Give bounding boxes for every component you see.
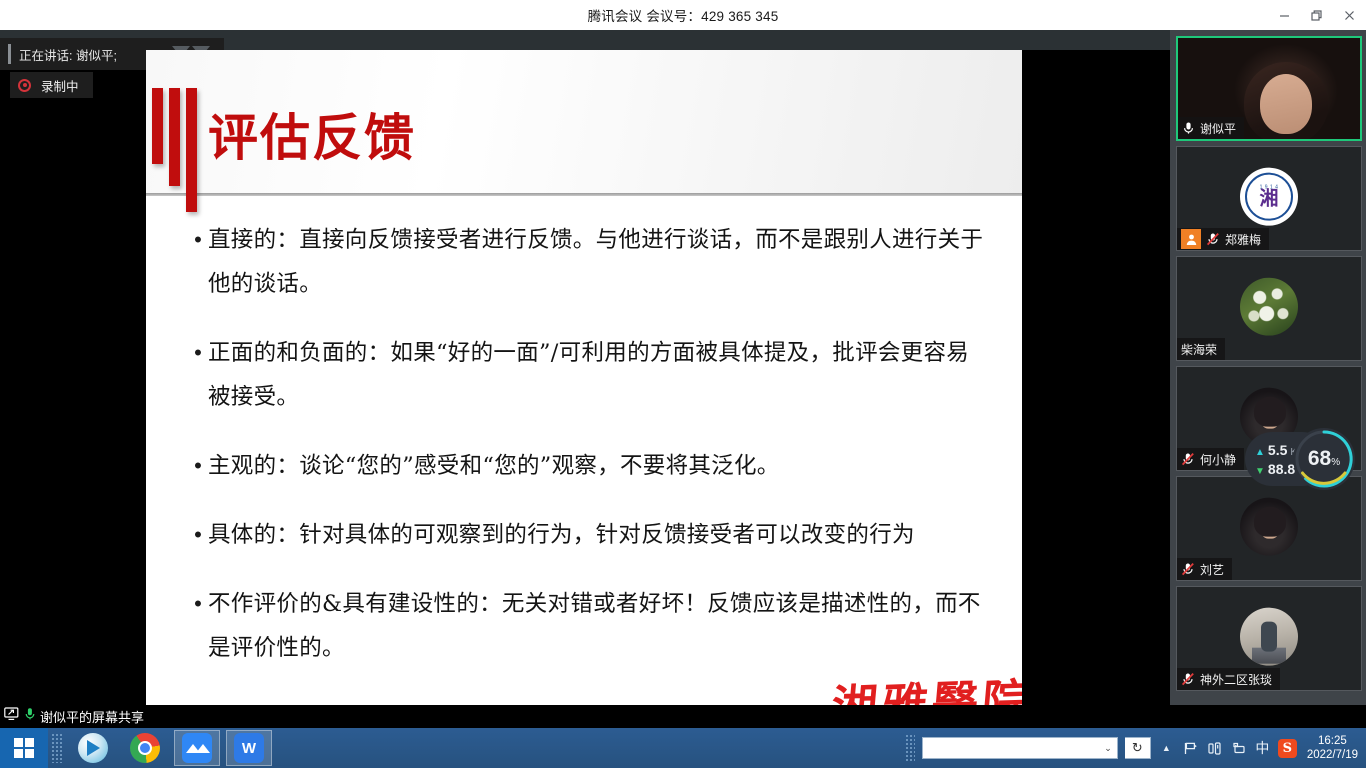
- bullet-marker: •: [188, 513, 208, 557]
- avatar: 1 9 1 4 湘: [1240, 167, 1298, 225]
- shared-slide[interactable]: 评估反馈 • 直接的：直接向反馈接受者进行反馈。与他进行谈话，而不是跟别人进行关…: [146, 50, 1022, 736]
- bullet-marker: •: [188, 218, 208, 306]
- participant-name: 何小静: [1200, 451, 1236, 468]
- bullet-marker: •: [188, 331, 208, 419]
- taskbar-app-google-chrome[interactable]: [122, 730, 168, 766]
- 360-browser-icon: [78, 733, 108, 763]
- list-item: • 具体的：针对具体的可观察到的行为，针对反馈接受者可以改变的行为: [188, 513, 988, 557]
- start-button[interactable]: [0, 728, 48, 768]
- screen-share-strip: 谢似平的屏幕共享: [0, 705, 1366, 728]
- nameplate: 谢似平: [1178, 117, 1244, 139]
- restore-button[interactable]: [1300, 0, 1332, 30]
- clock-time: 16:25: [1318, 734, 1347, 748]
- clock-date: 2022/7/19: [1307, 748, 1358, 762]
- participant-name: 谢似平: [1200, 120, 1236, 137]
- flag-icon[interactable]: [1182, 736, 1199, 760]
- recording-label: 录制中: [41, 76, 79, 95]
- participant-tile[interactable]: 柴海荣: [1176, 256, 1362, 361]
- mic-muted-icon: [1206, 232, 1220, 246]
- mic-muted-icon: [1181, 672, 1195, 686]
- download-speed-value: 88.8: [1268, 461, 1295, 477]
- tray-refresh-button[interactable]: ↻: [1125, 737, 1151, 759]
- tray-address-combo[interactable]: ⌄: [922, 737, 1118, 759]
- taskbar-app-360-browser[interactable]: [70, 730, 116, 766]
- participant-tile[interactable]: 神外二区张琰: [1176, 586, 1362, 691]
- bullet-text: 主观的：谈论“您的”感受和“您的”观察，不要将其泛化。: [208, 444, 780, 488]
- participant-tile-speaker[interactable]: 谢似平: [1176, 36, 1362, 141]
- tencent-meeting-icon: [182, 733, 212, 763]
- bullet-text: 直接的：直接向反馈接受者进行反馈。与他进行谈话，而不是跟别人进行关于他的谈话。: [208, 218, 988, 306]
- bullet-marker: •: [188, 582, 208, 670]
- minimize-button[interactable]: [1268, 0, 1300, 30]
- mic-muted-icon: [1181, 562, 1195, 576]
- show-hidden-icons-button[interactable]: ▲: [1158, 736, 1175, 760]
- avatar: [1240, 497, 1298, 555]
- participant-tile[interactable]: 1 9 1 4 湘 郑雅梅: [1176, 146, 1362, 251]
- taskbar-app-wps-office[interactable]: W: [226, 730, 272, 766]
- screen-share-icon: [4, 707, 20, 726]
- recording-indicator[interactable]: 录制中: [10, 72, 93, 98]
- chevron-down-icon: ⌄: [1104, 743, 1112, 754]
- school-crest-icon: 1 9 1 4 湘: [1245, 172, 1293, 220]
- participant-name: 神外二区张琰: [1200, 671, 1272, 688]
- windows-logo-icon: [14, 738, 34, 758]
- sogou-input-icon[interactable]: S: [1278, 739, 1297, 758]
- wps-icon: W: [234, 733, 264, 763]
- window-title-bar: 腾讯会议 会议号：429 365 345: [0, 0, 1366, 30]
- system-tray[interactable]: ⌄ ↻ ▲ 中 S 16:25: [905, 728, 1366, 768]
- active-speaker-label: 正在讲话: 谢似平;: [19, 45, 117, 64]
- network-speed-widget[interactable]: ▲ 5.5 K/s ▼ 88.8 K/s 68%: [1245, 428, 1355, 490]
- mic-muted-icon: [1181, 452, 1195, 466]
- participant-panel[interactable]: 谢似平 1 9 1 4 湘: [1170, 30, 1366, 705]
- taskbar-app-tencent-meeting[interactable]: [174, 730, 220, 766]
- bullet-text: 具体的：针对具体的可观察到的行为，针对反馈接受者可以改变的行为: [208, 513, 915, 557]
- participant-name: 刘艺: [1200, 561, 1224, 578]
- crest-symbol: 湘: [1259, 190, 1278, 208]
- bullet-marker: •: [188, 444, 208, 488]
- participant-tile[interactable]: 刘艺: [1176, 476, 1362, 581]
- usage-percent: 68%: [1308, 447, 1340, 471]
- list-item: • 正面的和负面的：如果“好的一面”/可利用的方面被具体提及，批评会更容易被接受…: [188, 331, 988, 419]
- list-item: • 主观的：谈论“您的”感受和“您的”观察，不要将其泛化。: [188, 444, 988, 488]
- avatar: [1240, 607, 1298, 665]
- avatar: [1240, 277, 1298, 335]
- nameplate: 柴海荣: [1177, 338, 1225, 360]
- bullet-text: 正面的和负面的：如果“好的一面”/可利用的方面被具体提及，批评会更容易被接受。: [208, 331, 988, 419]
- list-item: • 直接的：直接向反馈接受者进行反馈。与他进行谈话，而不是跟别人进行关于他的谈话…: [188, 218, 988, 306]
- meeting-stage: 正在讲话: 谢似平; 录制中 评估反馈 • 直接的：直接向反馈接受者进行反馈。与…: [0, 30, 1366, 705]
- upload-arrow-icon: ▲: [1255, 448, 1265, 458]
- mic-on-icon: [1182, 121, 1195, 135]
- tray-grip[interactable]: [905, 734, 915, 762]
- ime-indicator[interactable]: 中: [1254, 736, 1271, 760]
- screen-share-label: 谢似平的屏幕共享: [40, 707, 144, 726]
- windows-taskbar[interactable]: W ⌄ ↻ ▲: [0, 728, 1366, 768]
- nameplate: 神外二区张琰: [1177, 668, 1280, 690]
- usage-gauge: 68%: [1293, 428, 1355, 490]
- chrome-icon: [130, 733, 160, 763]
- upload-speed-value: 5.5: [1268, 442, 1287, 458]
- bullet-text: 不作评价的&具有建设性的：无关对错或者好坏！反馈应该是描述性的，而不是评价性的。: [208, 582, 988, 670]
- network-icon[interactable]: [1230, 736, 1247, 760]
- toolbar-grip[interactable]: [51, 733, 63, 763]
- clock[interactable]: 16:25 2022/7/19: [1304, 734, 1358, 762]
- window-controls: [1268, 0, 1366, 30]
- close-button[interactable]: [1332, 0, 1366, 30]
- usb-eject-icon[interactable]: [1206, 736, 1223, 760]
- mic-on-icon: [24, 707, 36, 726]
- record-dot-icon: [18, 79, 31, 92]
- nameplate: 何小静: [1177, 448, 1244, 470]
- nameplate: 刘艺: [1177, 558, 1232, 580]
- slide-bullet-list: • 直接的：直接向反馈接受者进行反馈。与他进行谈话，而不是跟别人进行关于他的谈话…: [188, 218, 988, 695]
- participant-name: 郑雅梅: [1225, 231, 1261, 248]
- list-item: • 不作评价的&具有建设性的：无关对错或者好坏！反馈应该是描述性的，而不是评价性…: [188, 582, 988, 670]
- page-title: 腾讯会议 会议号：429 365 345: [588, 5, 779, 25]
- download-arrow-icon: ▼: [1255, 467, 1265, 477]
- slide-decor-bars: [152, 88, 197, 212]
- participant-name: 柴海荣: [1181, 341, 1217, 358]
- speaker-accent-bar: [8, 44, 11, 64]
- host-badge-icon: [1181, 229, 1201, 249]
- slide-title: 评估反馈: [208, 98, 416, 170]
- nameplate: 郑雅梅: [1177, 228, 1269, 250]
- taskbar-app-list: W: [66, 730, 272, 766]
